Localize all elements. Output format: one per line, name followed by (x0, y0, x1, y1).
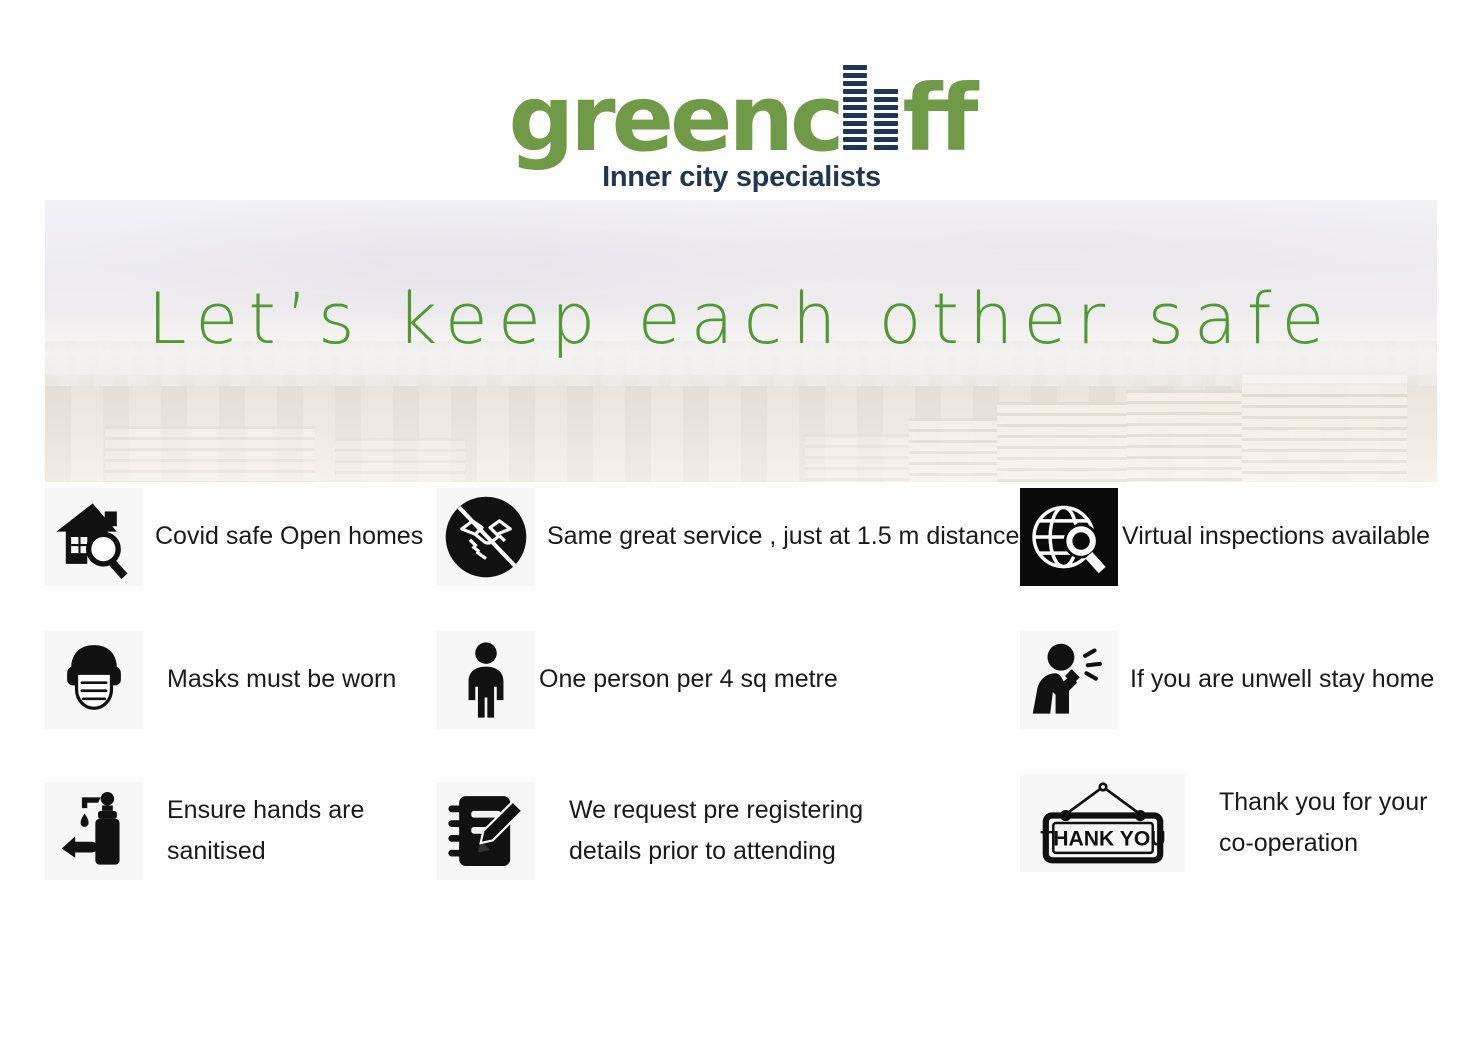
no-handshake-icon (437, 488, 535, 586)
logo-text-greenc: greenc (508, 65, 840, 172)
logo-wordmark: greenc ff (508, 58, 974, 165)
logo-text-ff: ff (903, 65, 975, 172)
globe-magnifier-icon (1020, 488, 1118, 586)
house-magnifier-icon (45, 488, 143, 586)
feature-item-virtual-inspections: Virtual inspections available (1020, 488, 1430, 586)
brand-logo: greenc ff Inner city specialists (0, 58, 1483, 194)
feature-label: Same great service , just at 1.5 m dista… (535, 516, 1019, 557)
feature-label: Virtual inspections available (1118, 516, 1430, 557)
feature-label: One person per 4 sq metre (535, 659, 838, 700)
feature-item-sanitise-hands: Ensure hands are sanitised (45, 782, 364, 880)
feature-row: Ensure hands are sanitised (45, 774, 1445, 917)
feature-item-stay-home-if-unwell: If you are unwell stay home (1020, 631, 1434, 729)
hand-sanitiser-icon (45, 782, 143, 880)
coughing-person-icon (1020, 631, 1118, 729)
feature-item-thank-you: THANK YOU Thank you for your co-operatio… (1020, 774, 1427, 872)
feature-label: Thank you for your co-operation (1185, 782, 1427, 865)
feature-item-pre-registration: We request pre registering details prior… (437, 782, 863, 880)
banner-heading: Let’s keep each other safe (45, 278, 1437, 360)
feature-label: We request pre registering details prior… (535, 790, 863, 873)
notepad-pencil-icon (437, 782, 535, 880)
feature-item-social-distance: Same great service , just at 1.5 m dista… (437, 488, 1019, 586)
logo-bar-column-tall (843, 62, 867, 150)
thank-you-sign-label: THANK YOU (1040, 827, 1165, 850)
feature-row: Masks must be worn One person per 4 sq m… (45, 631, 1445, 774)
feature-item-one-person-per-4sqm: One person per 4 sq metre (437, 631, 838, 729)
logo-bar-column-short (874, 87, 898, 150)
feature-item-covid-safe-open-homes: Covid safe Open homes (45, 488, 423, 586)
hero-banner: Let’s keep each other safe (45, 200, 1437, 482)
thank-you-sign-icon: THANK YOU (1020, 774, 1185, 872)
standing-person-icon (437, 631, 535, 729)
feature-label: Covid safe Open homes (143, 516, 423, 557)
feature-row: Covid safe Open homes (45, 488, 1445, 631)
feature-label: Ensure hands are sanitised (143, 790, 364, 873)
face-mask-icon (45, 631, 143, 729)
feature-label: If you are unwell stay home (1118, 659, 1434, 700)
feature-label: Masks must be worn (143, 659, 396, 700)
feature-item-masks-required: Masks must be worn (45, 631, 396, 729)
logo-building-bars-icon (841, 58, 903, 150)
safety-guidelines-list: Covid safe Open homes (45, 488, 1445, 917)
